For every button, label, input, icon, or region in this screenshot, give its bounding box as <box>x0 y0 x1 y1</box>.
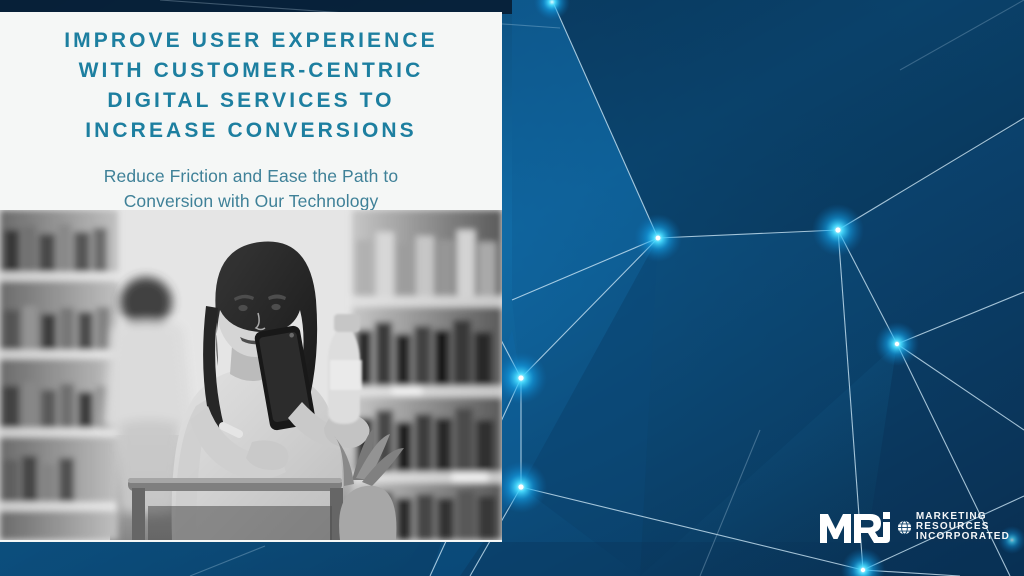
shopper-photo-illustration <box>0 210 502 540</box>
headline-block: IMPROVE USER EXPERIENCE WITH CUSTOMER-CE… <box>0 12 502 214</box>
page-title: IMPROVE USER EXPERIENCE WITH CUSTOMER-CE… <box>18 26 484 146</box>
logo-right-group: MARKETING RESOURCES INCORPORATED <box>897 512 1010 543</box>
content-card: IMPROVE USER EXPERIENCE WITH CUSTOMER-CE… <box>0 12 502 542</box>
mri-wordmark-icon <box>819 510 891 544</box>
mri-logo: MARKETING RESOURCES INCORPORATED <box>819 510 1010 544</box>
page-subtitle: Reduce Friction and Ease the Path to Con… <box>18 164 484 214</box>
globe-icon <box>897 520 912 535</box>
slide-canvas: IMPROVE USER EXPERIENCE WITH CUSTOMER-CE… <box>0 0 1024 576</box>
hero-photo <box>0 210 502 540</box>
logo-line-3: INCORPORATED <box>916 532 1010 542</box>
logo-wordlines: MARKETING RESOURCES INCORPORATED <box>916 512 1010 543</box>
